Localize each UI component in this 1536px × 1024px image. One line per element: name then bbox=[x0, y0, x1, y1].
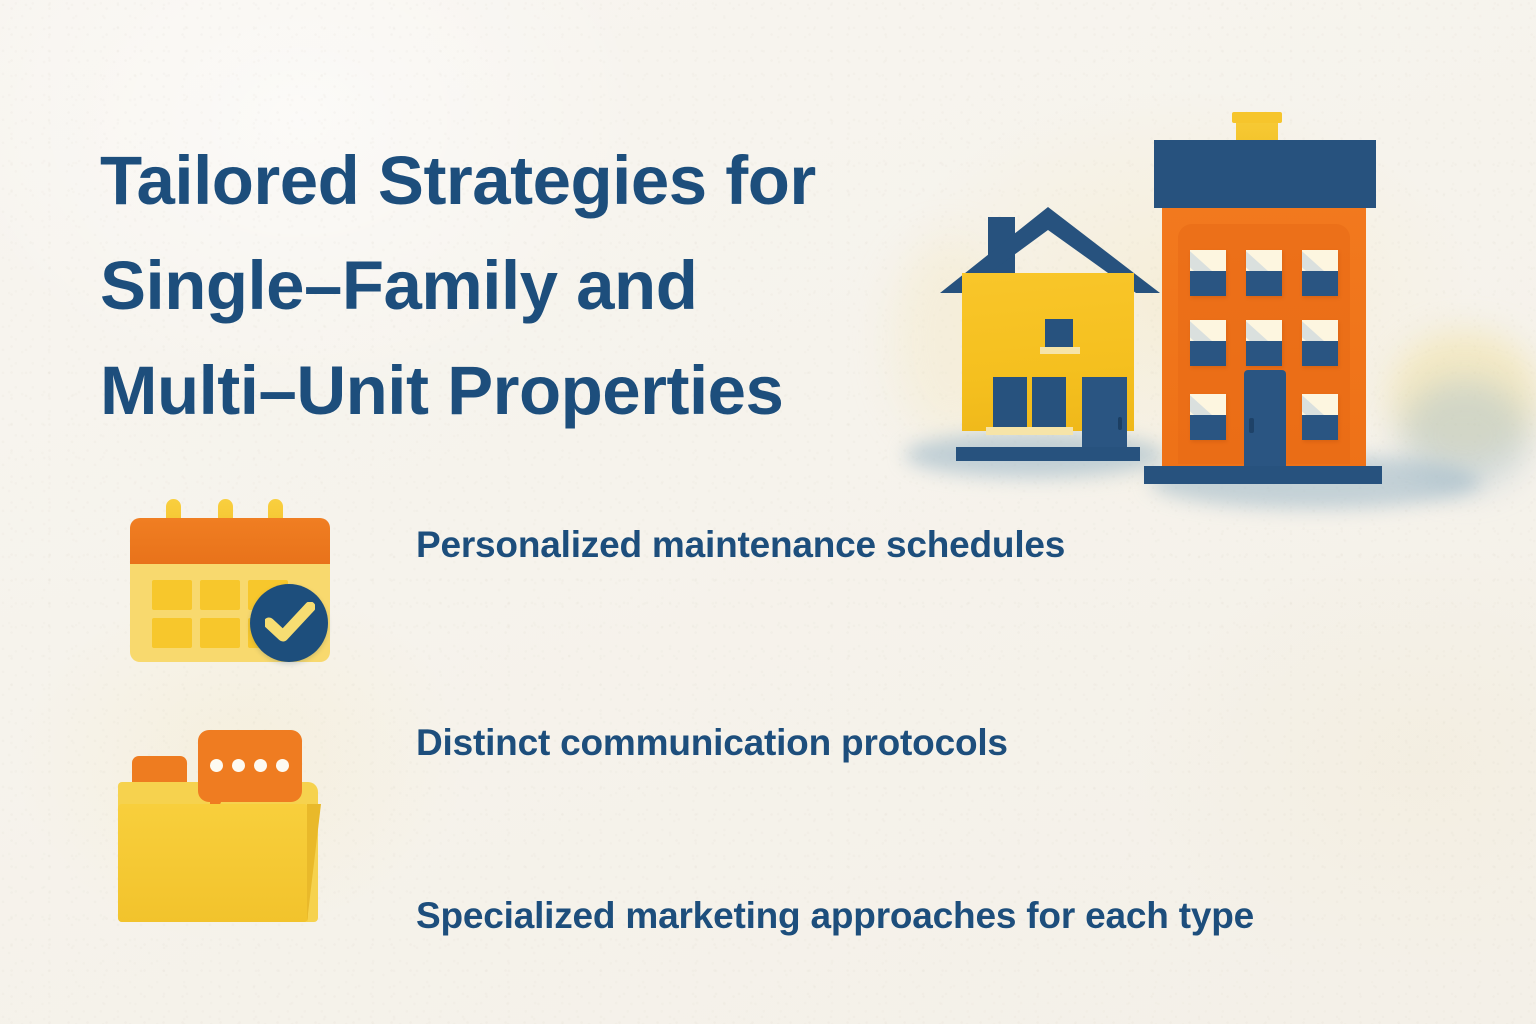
apartment-window bbox=[1246, 250, 1282, 296]
apartment-window bbox=[1302, 320, 1338, 366]
speech-bubble bbox=[198, 730, 302, 802]
apartment-window bbox=[1246, 320, 1282, 366]
apartment-window bbox=[1302, 250, 1338, 296]
apartment-window bbox=[1302, 394, 1338, 440]
house-attic-window-sill bbox=[1040, 347, 1080, 354]
house-door bbox=[1082, 377, 1127, 455]
speech-dot bbox=[232, 759, 245, 772]
apartment-window bbox=[1190, 394, 1226, 440]
folder-front-panel bbox=[118, 804, 308, 922]
page-title-line-2: Single–Family and bbox=[100, 233, 960, 338]
calendar-header-band bbox=[130, 518, 330, 566]
apartment-roof bbox=[1154, 140, 1376, 208]
multi-unit-apartment-illustration bbox=[1150, 112, 1410, 502]
house-window-pane-left bbox=[993, 377, 1027, 427]
house-foundation bbox=[956, 447, 1140, 461]
single-family-house-illustration bbox=[940, 195, 1160, 455]
house-attic-window bbox=[1045, 319, 1073, 347]
house-window-pane-right bbox=[1032, 377, 1066, 427]
speech-bubble-dots bbox=[210, 759, 289, 772]
house-door-handle bbox=[1118, 417, 1122, 430]
speech-dot bbox=[276, 759, 289, 772]
bullet-item-label: Distinct communication protocols bbox=[416, 715, 1076, 771]
apartment-base bbox=[1144, 466, 1382, 484]
infographic-canvas: Tailored Strategies for Single–Family an… bbox=[0, 0, 1536, 1024]
folder-message-icon bbox=[118, 730, 338, 915]
apartment-window bbox=[1190, 320, 1226, 366]
bullet-item-label: Personalized maintenance schedules bbox=[416, 517, 1076, 573]
page-title-line-3: Multi–Unit Properties bbox=[100, 338, 960, 443]
house-window-sill bbox=[986, 427, 1073, 435]
apartment-door-handle bbox=[1249, 418, 1254, 433]
page-title: Tailored Strategies for Single–Family an… bbox=[100, 128, 960, 443]
apartment-window bbox=[1190, 250, 1226, 296]
calendar-day-cell bbox=[152, 580, 192, 610]
bullet-item-label: Specialized marketing approaches for eac… bbox=[416, 888, 1526, 944]
calendar-check-icon bbox=[126, 496, 342, 666]
speech-dot bbox=[254, 759, 267, 772]
calendar-day-cell bbox=[200, 618, 240, 648]
page-title-line-1: Tailored Strategies for bbox=[100, 128, 960, 233]
calendar-day-cell bbox=[152, 618, 192, 648]
checkmark-icon bbox=[265, 602, 315, 644]
check-badge bbox=[250, 584, 328, 662]
apartment-chimney-cap bbox=[1232, 112, 1282, 123]
calendar-day-cell bbox=[200, 580, 240, 610]
speech-dot bbox=[210, 759, 223, 772]
